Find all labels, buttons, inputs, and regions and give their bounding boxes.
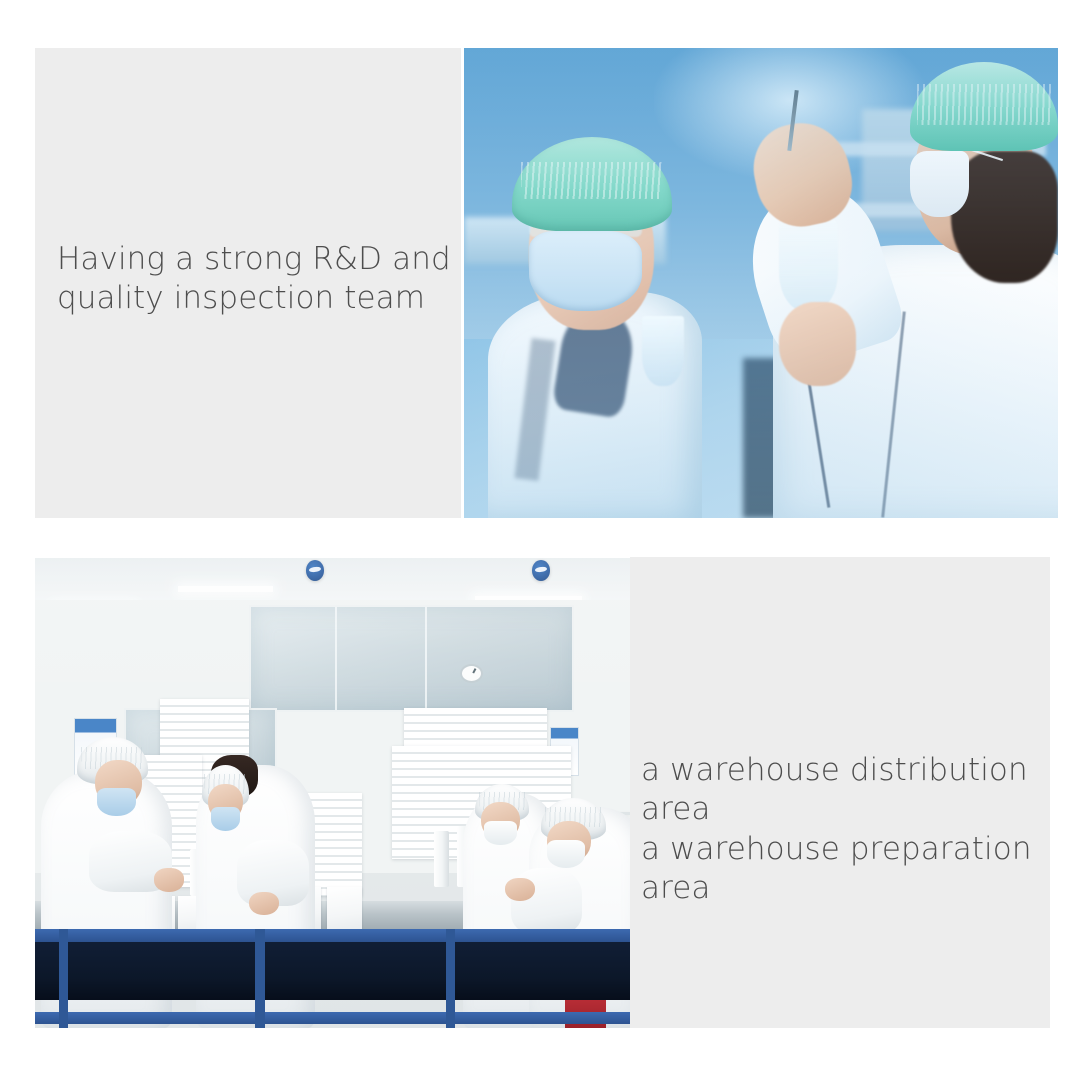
ceiling-sign-left [306,560,324,581]
packer-1-hand [154,868,184,892]
ceiling-light-2 [178,586,273,592]
table-leg-3 [446,929,456,1028]
cleanroom-window [249,605,574,712]
window-mullion-2 [425,607,427,710]
laboratory-technicians-photo [464,48,1058,518]
technician-right-mask [910,151,969,217]
table-leg-1 [59,929,69,1028]
window-mullion-1 [335,607,337,710]
packer-2-mask [211,807,241,831]
packer-4-mask [547,840,586,868]
technician-left-mask [529,231,642,311]
packer-4-hand [505,878,535,902]
packer-3-mask [484,821,517,845]
glass-flask [779,217,838,311]
rd-quality-caption: Having a strong R&D and quality inspecti… [57,240,457,319]
cleanroom-packing-photo [35,558,630,1028]
white-tube-3 [434,831,449,887]
table-leg-2 [255,929,265,1028]
technician-right-hand-lower [779,302,856,387]
table-blue-rail-bottom [35,1012,630,1024]
table-blue-rail-top [35,929,630,941]
test-tube [642,316,684,387]
warehouse-caption: a warehouse distribution area a warehous… [641,751,1051,908]
ceiling-sign-right [532,560,550,581]
packer-2-hand [249,892,279,916]
